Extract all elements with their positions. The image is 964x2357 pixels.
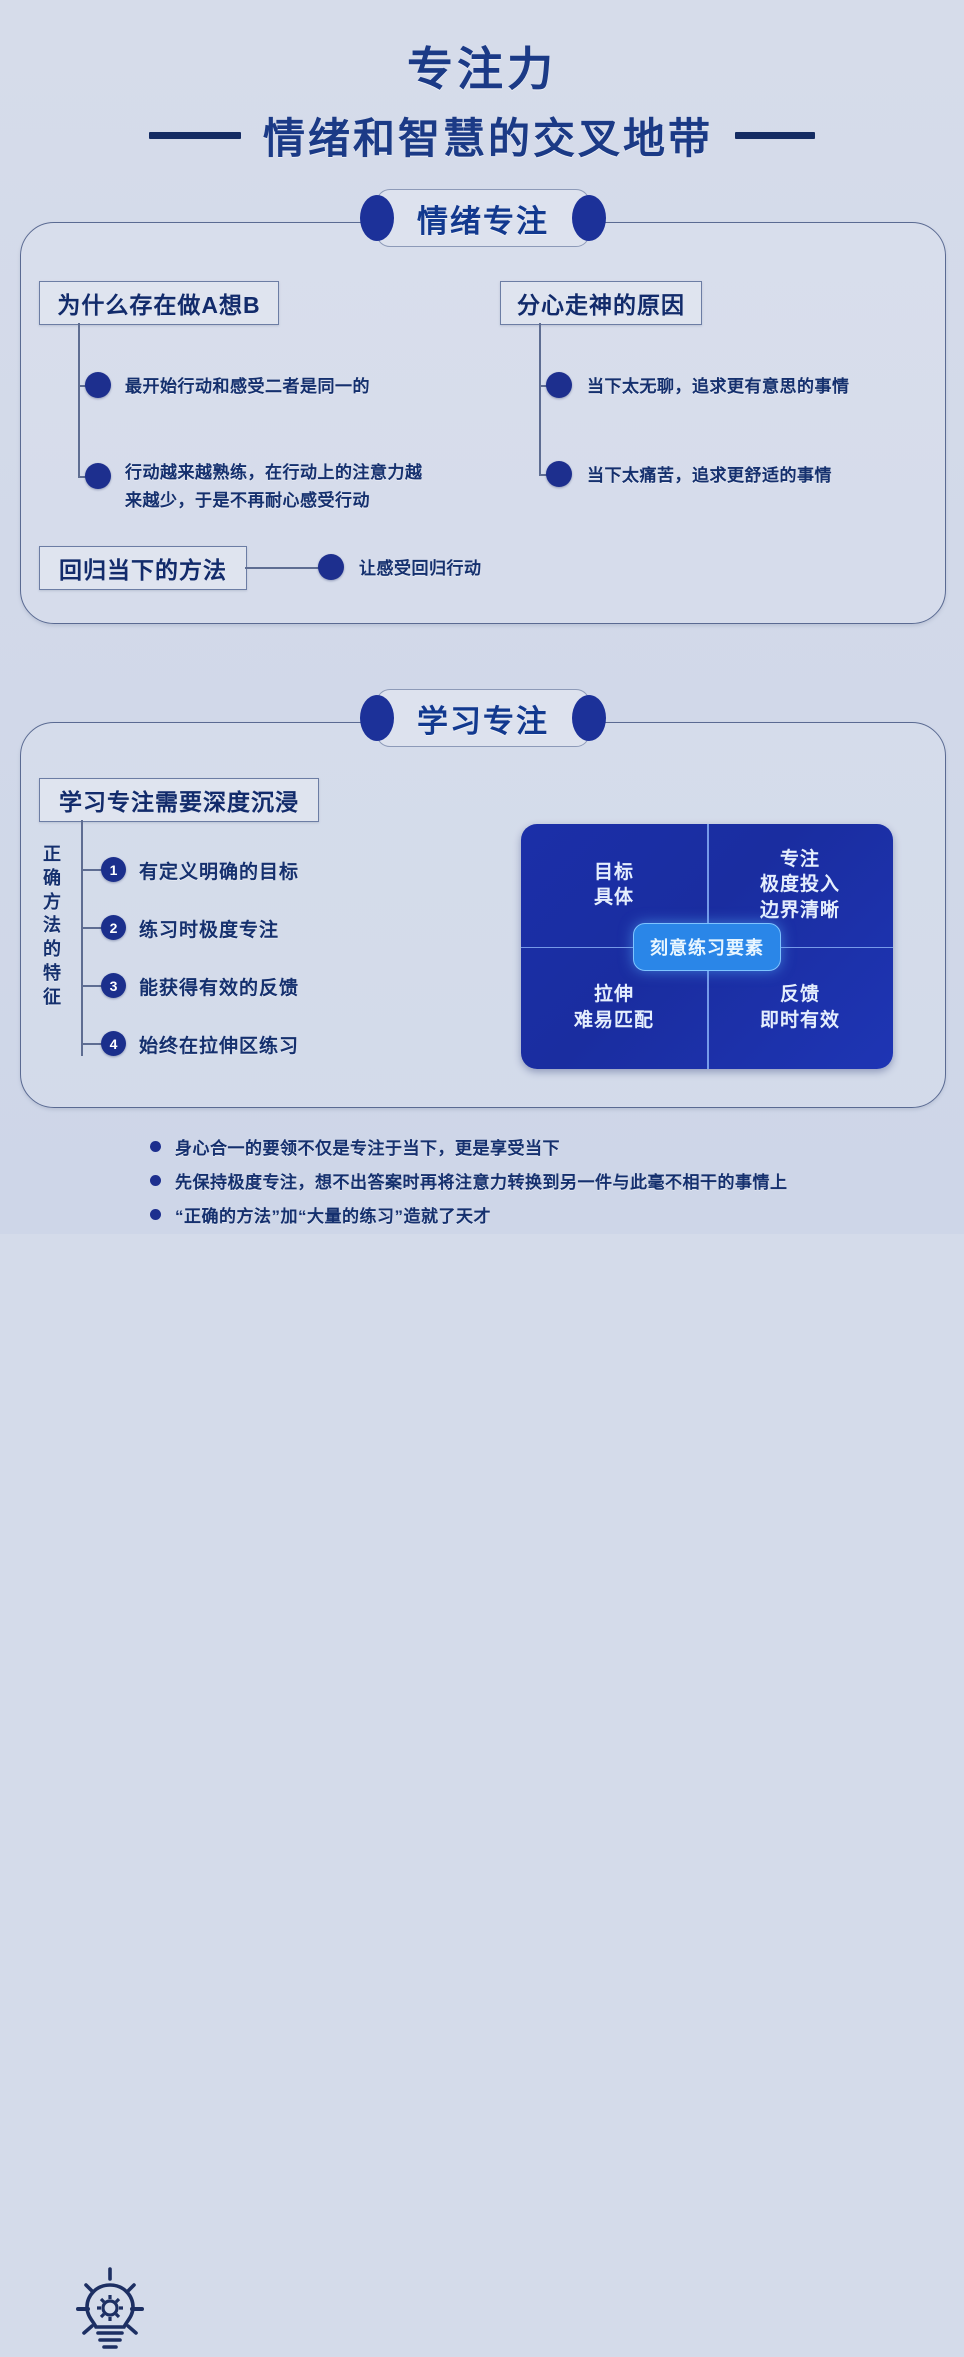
bullet-text: 让感受回归行动 — [359, 555, 659, 583]
quadrant-cell-line: 反馈 — [780, 982, 820, 1008]
label-why-do-a-think-b: 为什么存在做A想B — [39, 281, 279, 325]
quadrant-cell-line: 专注 — [780, 847, 820, 873]
quadrant-center-label: 刻意练习要素 — [633, 923, 781, 971]
bullet-text: 当下太无聊，追求更有意思的事情 — [587, 373, 917, 401]
bullet-text: 最开始行动和感受二者是同一的 — [125, 373, 455, 401]
footer-notes: 身心合一的要领不仅是专注于当下，更是享受当下 先保持极度专注，想不出答案时再将注… — [0, 1128, 964, 1234]
list-item-label: 能获得有效的反馈 — [139, 973, 299, 1000]
quadrant-cell-line: 拉伸 — [594, 982, 634, 1008]
title-main: 专注力 — [0, 44, 964, 95]
section-card-emotion: 情绪专注 为什么存在做A想B 最开始行动和感受二者是同一的 行动越来越熟练，在行… — [20, 222, 946, 624]
label-reasons-for-distraction: 分心走神的原因 — [500, 281, 702, 325]
connector-left-vertical — [78, 323, 80, 477]
footer-note-item: 先保持极度专注，想不出答案时再将注意力转换到另一件与此毫不相干的事情上 — [150, 1168, 788, 1193]
list-item-label: 练习时极度专注 — [139, 915, 279, 942]
footer-note-item: 身心合一的要领不仅是专注于当下，更是享受当下 — [150, 1134, 560, 1159]
section-badge-study: 学习专注 — [376, 689, 590, 747]
label-study-focus-needs-deep-immersion: 学习专注需要深度沉浸 — [39, 778, 319, 822]
connector-num-branch-1 — [81, 869, 103, 871]
bullet-dot — [85, 463, 111, 489]
footer-note-text: “正确的方法”加“大量的练习”造就了天才 — [175, 1202, 491, 1227]
footer-bullet-dot-icon — [150, 1175, 161, 1186]
list-item-label: 有定义明确的目标 — [139, 857, 299, 884]
badge-dot-left-icon — [360, 695, 394, 741]
connector-study-vertical — [81, 820, 83, 1056]
deliberate-practice-quadrant: 目标 具体 专注 极度投入 边界清晰 拉伸 难易匹配 反馈 即时有效 刻意练习要… — [521, 824, 893, 1069]
section-badge-emotion: 情绪专注 — [376, 189, 590, 247]
list-item-number: 4 — [101, 1031, 126, 1056]
badge-dot-right-icon — [572, 695, 606, 741]
footer-note-text: 先保持极度专注，想不出答案时再将注意力转换到另一件与此毫不相干的事情上 — [175, 1168, 788, 1193]
connector-method-horizontal — [245, 567, 321, 569]
list-item-number: 3 — [101, 973, 126, 998]
section-badge-label: 情绪专注 — [417, 196, 549, 241]
quadrant-cell-line: 即时有效 — [760, 1008, 840, 1034]
list-item-label: 始终在拉伸区练习 — [139, 1031, 299, 1058]
label-return-to-present-method: 回归当下的方法 — [39, 546, 247, 590]
connector-num-branch-2 — [81, 927, 103, 929]
title-subtitle-row: 情绪和智慧的交叉地带 — [0, 105, 964, 166]
quadrant-cell-line: 边界清晰 — [760, 898, 840, 924]
page-title: 专注力 情绪和智慧的交叉地带 — [0, 44, 964, 166]
footer-note-text: 身心合一的要领不仅是专注于当下，更是享受当下 — [175, 1134, 560, 1159]
bullet-dot — [546, 372, 572, 398]
quadrant-cell-line: 极度投入 — [760, 872, 840, 898]
list-item-number: 1 — [101, 857, 126, 882]
lightbulb-gear-icon — [68, 2265, 152, 2357]
connector-num-branch-3 — [81, 985, 103, 987]
infographic-page: 专注力 情绪和智慧的交叉地带 情绪专注 为什么存在做A想B 最开始行动和感受二者… — [0, 0, 964, 1234]
connector-right-vertical — [539, 323, 541, 475]
badge-dot-left-icon — [360, 195, 394, 241]
title-dash-left-icon — [149, 132, 241, 139]
footer-bullet-dot-icon — [150, 1141, 161, 1152]
bullet-dot — [85, 372, 111, 398]
title-dash-right-icon — [735, 132, 815, 139]
bullet-dot — [546, 461, 572, 487]
section-badge-label: 学习专注 — [417, 696, 549, 741]
bullet-text: 行动越来越熟练，在行动上的注意力越 来越少，于是不再耐心感受行动 — [125, 459, 475, 515]
bullet-text: 当下太痛苦，追求更舒适的事情 — [587, 462, 917, 490]
title-subtitle: 情绪和智慧的交叉地带 — [263, 105, 713, 166]
footer-bullet-dot-icon — [150, 1209, 161, 1220]
connector-num-branch-4 — [81, 1043, 103, 1045]
quadrant-cell-line: 难易匹配 — [574, 1008, 654, 1034]
vertical-label-correct-method-traits: 正确方法的特征 — [41, 843, 63, 1009]
quadrant-cell-line: 具体 — [594, 885, 634, 911]
list-item-number: 2 — [101, 915, 126, 940]
bullet-dot — [318, 554, 344, 580]
badge-dot-right-icon — [572, 195, 606, 241]
footer-note-item: “正确的方法”加“大量的练习”造就了天才 — [150, 1202, 491, 1227]
quadrant-cell-line: 目标 — [594, 860, 634, 886]
